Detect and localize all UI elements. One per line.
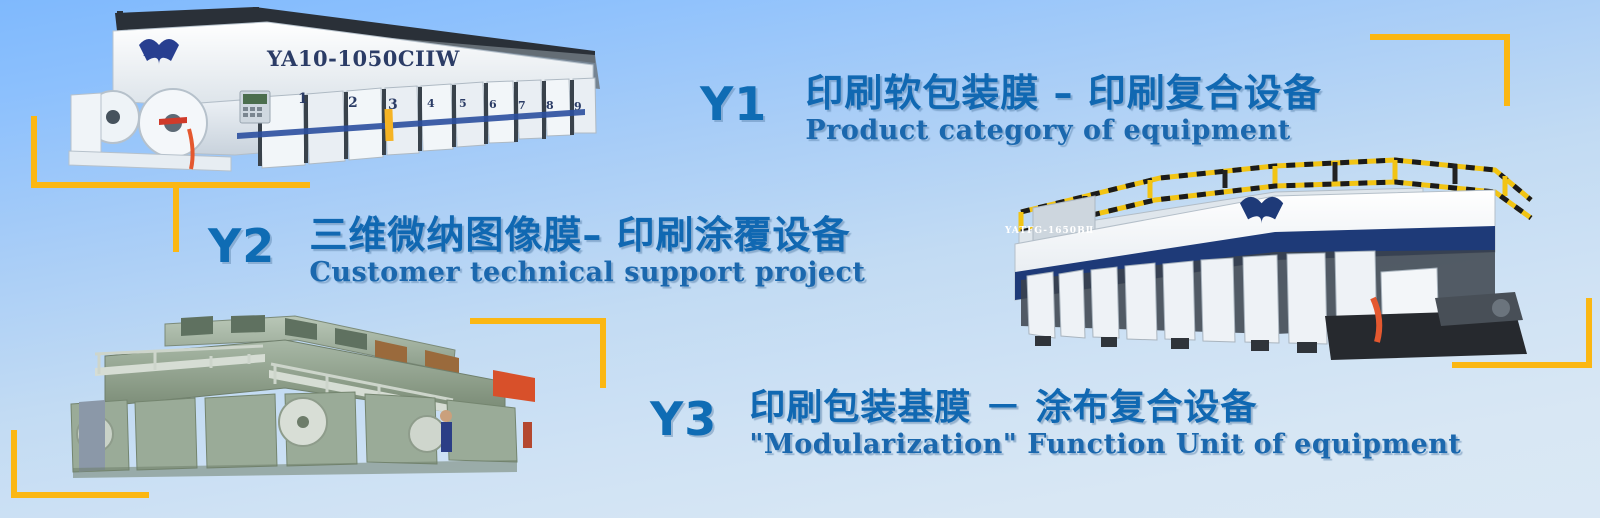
- entry-key-y2: Y2: [208, 219, 275, 273]
- machine-unit-number-4: 4: [427, 97, 435, 110]
- entry-title-cn-y1: 印刷软包装膜 – 印刷复合设备: [805, 62, 1321, 117]
- entry-group-y2: Y2 三维微纳图像膜– 印刷涂覆设备 Customer technical su…: [208, 204, 865, 288]
- entry-text-y2: 三维微纳图像膜– 印刷涂覆设备 Customer technical suppo…: [309, 204, 865, 288]
- entry-text-y3: 印刷包装基膜 － 涂布复合设备 "Modularization" Functio…: [749, 378, 1461, 460]
- entry-title-cn-y3: 印刷包装基膜 － 涂布复合设备: [749, 378, 1461, 430]
- entry-title-en-y1: Product category of equipment: [805, 115, 1321, 146]
- entry-title-en-y2: Customer technical support project: [309, 257, 865, 288]
- accent-rule-bottom-left-vertical: [11, 430, 17, 498]
- accent-rule-mid-right-horizontal: [1452, 362, 1592, 368]
- machine-unit-number-1: 1: [298, 91, 308, 107]
- machine-unit-number-8: 8: [546, 99, 554, 112]
- entry-key-y3: Y3: [650, 392, 717, 446]
- accent-rule-mid-center-vertical: [600, 318, 606, 388]
- operator-figure: [440, 410, 452, 452]
- entry-group-y3: Y3 印刷包装基膜 － 涂布复合设备 "Modularization" Func…: [650, 378, 1461, 460]
- entry-title-en-y3: "Modularization" Function Unit of equipm…: [749, 429, 1461, 460]
- accent-rule-top-left-horizontal: [31, 182, 179, 188]
- banner-root: YA10-1050CIIW HY 1 2 3 4 5 6 7 8 9: [0, 0, 1600, 518]
- accent-rule-bottom-left-horizontal: [11, 492, 149, 498]
- machine-unit-number-2: 2: [348, 95, 358, 111]
- machine-unit-number-6: 6: [489, 98, 497, 111]
- machine-photo-coating-laminating-machine: YATFG-1650BⅡ: [975, 148, 1535, 363]
- accent-rule-mid-center-horizontal: [470, 318, 606, 324]
- accent-rule-top-left-vertical: [31, 116, 37, 188]
- accent-rule-mid-left-vertical: [173, 182, 179, 252]
- machine-unit-number-5: 5: [459, 97, 467, 110]
- entry-title-cn-y2: 三维微纳图像膜– 印刷涂覆设备: [309, 204, 865, 259]
- machine-model-label-2: YATFG-1650BⅡ: [1005, 226, 1094, 236]
- entry-group-y1: Y1 印刷软包装膜 – 印刷复合设备 Product category of e…: [700, 62, 1322, 146]
- machine-unit-number-3: 3: [388, 97, 398, 113]
- accent-rule-top-right-horizontal: [1370, 34, 1510, 40]
- accent-rule-top-right-vertical: [1504, 34, 1510, 106]
- entry-key-y1: Y1: [700, 77, 767, 131]
- machine-photo-rotogravure-printing-press: YA10-1050CIIW HY 1 2 3 4 5 6 7 8 9: [55, 5, 600, 180]
- machine-photo-base-film-coating-line: [35, 310, 570, 485]
- machine-unit-number-7: 7: [518, 99, 526, 112]
- accent-rule-mid-left-horizontal: [173, 182, 310, 188]
- machine-brand-label-1: HY: [143, 48, 178, 59]
- machine-model-label-1: YA10-1050CIIW: [267, 46, 460, 71]
- entry-text-y1: 印刷软包装膜 – 印刷复合设备 Product category of equi…: [805, 62, 1321, 146]
- accent-rule-mid-right-vertical: [1586, 298, 1592, 368]
- machine-unit-number-9: 9: [574, 100, 582, 113]
